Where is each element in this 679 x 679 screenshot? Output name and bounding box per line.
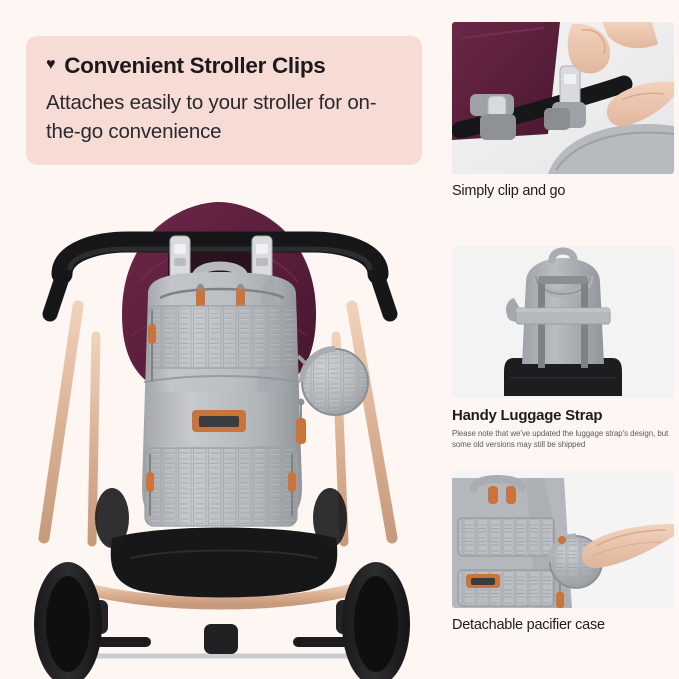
headline-subtitle: Attaches easily to your stroller for on-… — [46, 88, 402, 146]
panel-caption-pacifier-case: Detachable pacifier case — [452, 617, 674, 634]
feature-panel-pacifier-case: Detachable pacifier case — [452, 470, 674, 634]
heart-icon: ♥ — [46, 57, 55, 73]
right-column: Simply clip and go — [448, 0, 679, 679]
panel-caption-clip: Simply clip and go — [452, 183, 674, 200]
headline-title: Convenient Stroller Clips — [64, 53, 325, 79]
feature-panel-luggage-strap: Handy Luggage Strap Please note that we'… — [452, 246, 674, 451]
luggage-strap-disclaimer: Please note that we've updated the lugga… — [452, 429, 674, 451]
headline-title-row: ♥ Convenient Stroller Clips — [46, 53, 402, 79]
hero-product-photo — [0, 186, 440, 679]
feature-panel-clip: Simply clip and go — [452, 22, 674, 200]
left-column: ♥ Convenient Stroller Clips Attaches eas… — [0, 0, 440, 679]
pacifier-case-photo — [452, 470, 674, 608]
product-feature-image: ♥ Convenient Stroller Clips Attaches eas… — [0, 0, 679, 679]
headline-card: ♥ Convenient Stroller Clips Attaches eas… — [26, 36, 422, 165]
panel-caption-luggage-strap: Handy Luggage Strap — [452, 407, 674, 425]
clip-photo — [452, 22, 674, 174]
luggage-strap-photo — [452, 246, 674, 398]
